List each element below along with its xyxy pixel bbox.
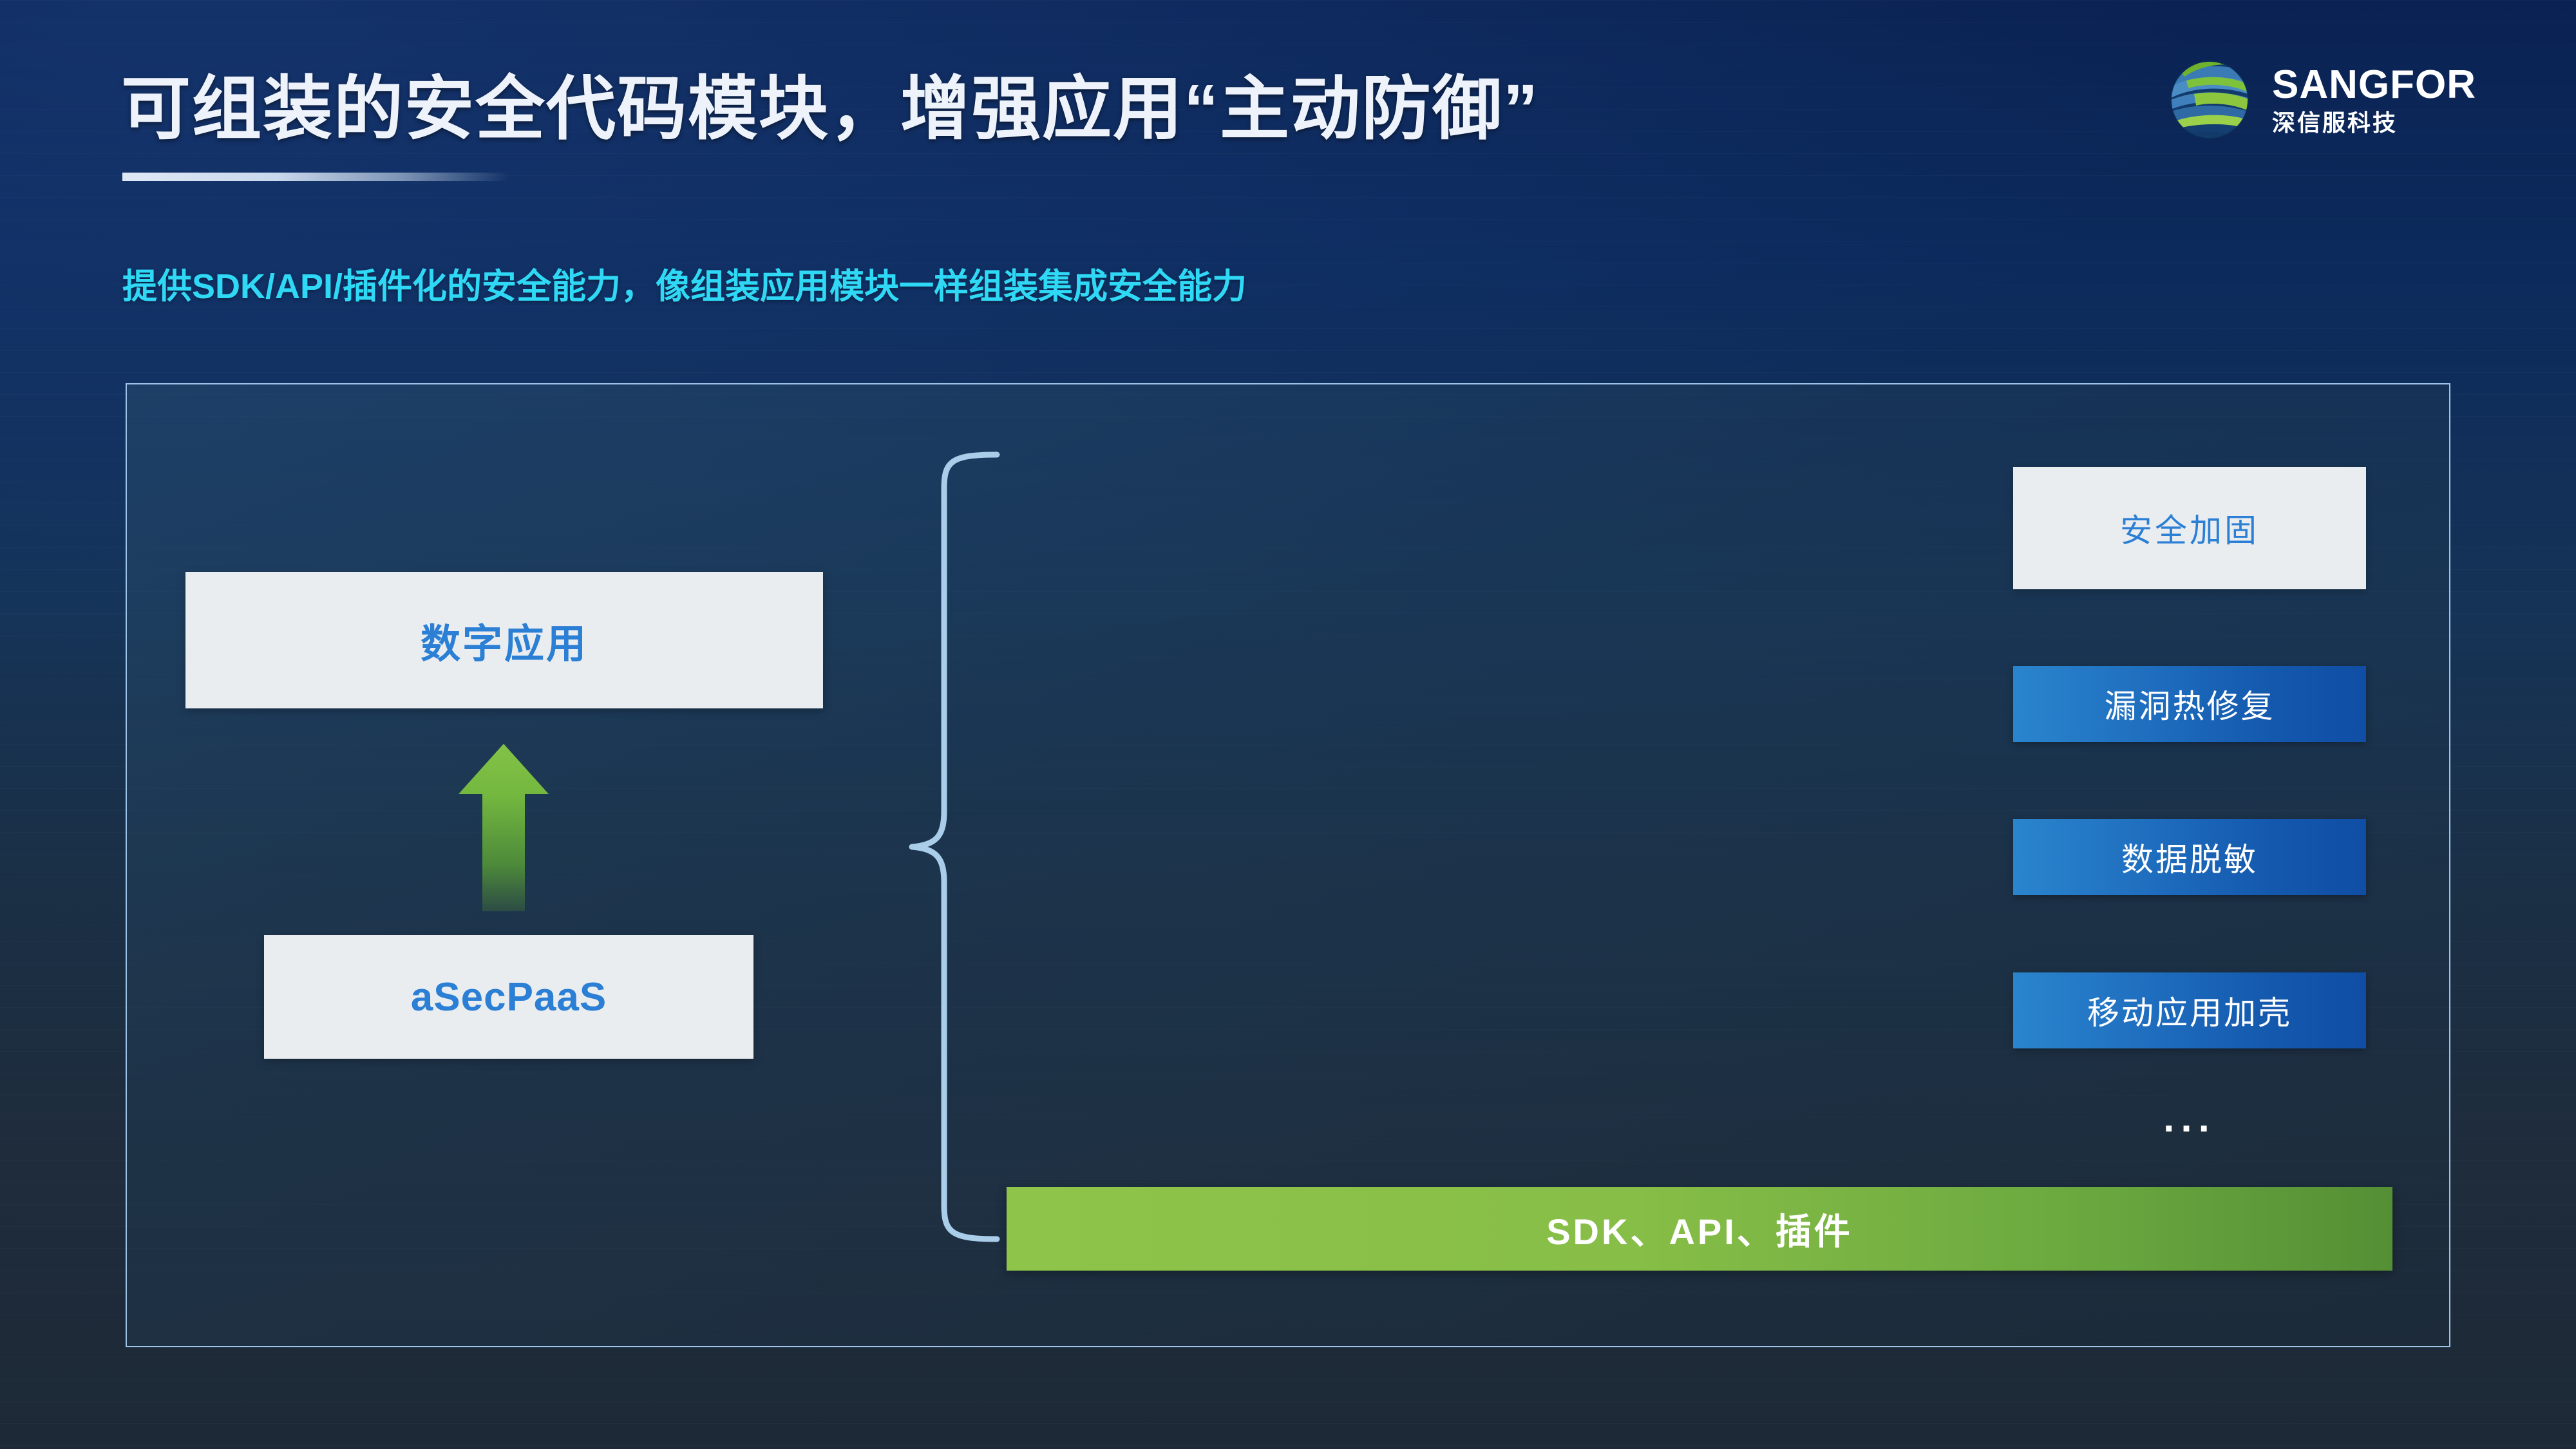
- slide-canvas: 可组装的安全代码模块，增强应用“主动防御” 提供SDK/API/插件化的安全能力…: [0, 0, 2576, 1449]
- brand-logo: SANGFOR 深信服科技: [2161, 52, 2476, 148]
- module-label: 移动应用加壳: [2087, 987, 2292, 1034]
- title-underline: [122, 173, 509, 181]
- column-0-header-label: 安全加固: [2120, 505, 2259, 551]
- logo-wordmark: SANGFOR: [2272, 65, 2476, 105]
- module-box[interactable]: 漏洞热修复: [2013, 666, 2366, 742]
- curly-brace-icon: [875, 451, 1003, 1243]
- sangfor-globe-icon: [2161, 52, 2258, 148]
- asecpaas-label: aSecPaaS: [411, 974, 607, 1020]
- page-title: 可组装的安全代码模块，增强应用“主动防御”: [121, 53, 1539, 153]
- module-box[interactable]: 数据脱敏: [2013, 819, 2366, 895]
- digital-application-label: 数字应用: [421, 611, 588, 669]
- column-0-ellipsis: ...: [2013, 1099, 2366, 1139]
- sdk-api-plugin-label: SDK、API、插件: [1546, 1203, 1853, 1255]
- digital-application-box[interactable]: 数字应用: [185, 572, 823, 708]
- sdk-api-plugin-bar[interactable]: SDK、API、插件: [1007, 1187, 2392, 1271]
- logo-chinese-name: 深信服科技: [2272, 111, 2476, 135]
- green-up-arrow-icon: [459, 744, 549, 911]
- logo-text: SANGFOR 深信服科技: [2272, 65, 2476, 135]
- column-0-header[interactable]: 安全加固: [2013, 467, 2366, 589]
- page-subtitle: 提供SDK/API/插件化的安全能力，像组装应用模块一样组装集成安全能力: [122, 258, 1247, 308]
- module-label: 数据脱敏: [2121, 834, 2258, 880]
- asecpaas-box[interactable]: aSecPaaS: [264, 935, 753, 1059]
- module-label: 漏洞热修复: [2105, 681, 2275, 727]
- module-box[interactable]: 移动应用加壳: [2013, 972, 2366, 1048]
